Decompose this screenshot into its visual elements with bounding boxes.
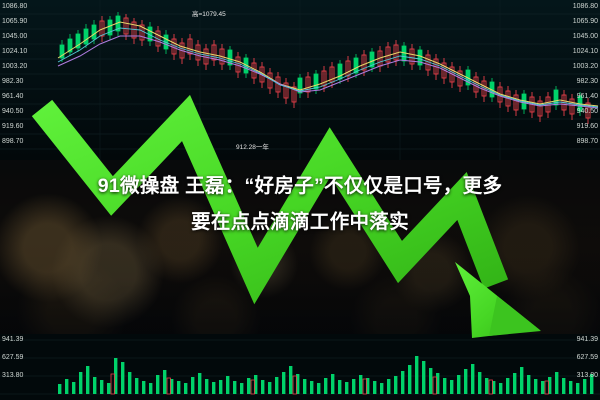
top-axis-right-9: 898.70 [577,138,598,145]
top-chart-svg [0,0,600,160]
top-axis-left-7: 940.50 [2,108,23,115]
top-axis-left-5: 982.30 [2,78,23,85]
top-stock-chart: 1086.80 1065.90 1045.00 1024.10 1003.20 … [0,0,600,160]
bottom-axis-right-2: 313.80 [577,372,598,379]
top-axis-left-3: 1024.10 [2,48,27,55]
headline-line-2: 要在点点滴滴工作中落实 [20,204,580,240]
image-canvas: 1086.80 1065.90 1045.00 1024.10 1003.20 … [0,0,600,400]
top-axis-right-1: 1065.90 [573,18,598,25]
bottom-chart-svg [0,334,600,400]
top-axis-right-3: 1024.10 [573,48,598,55]
bottom-axis-left-0: 941.39 [2,336,23,343]
top-axis-left-4: 1003.20 [2,63,27,70]
chart-low-annotation: 912.28一年 [236,141,269,151]
top-axis-right-4: 1003.20 [573,63,598,70]
top-axis-right-5: 982.30 [577,78,598,85]
top-axis-left-2: 1045.00 [2,33,27,40]
top-axis-left-9: 898.70 [2,138,23,145]
bottom-volume-chart: 941.39 627.59 313.80 941.39 627.59 313.8… [0,334,600,400]
top-axis-left-6: 961.40 [2,93,23,100]
top-axis-right-7: 940.50 [577,108,598,115]
bottom-axis-left-1: 627.59 [2,354,23,361]
top-axis-left-0: 1086.80 [2,3,27,10]
headline-text: 91微操盘 王磊：“好房子”不仅仅是口号，更多 要在点点滴滴工作中落实 [20,168,580,240]
top-axis-right-8: 919.60 [577,123,598,130]
top-axis-left-8: 919.60 [2,123,23,130]
bottom-axis-right-0: 941.39 [577,336,598,343]
top-axis-right-6: 961.40 [577,93,598,100]
top-axis-left-1: 1065.90 [2,18,27,25]
top-axis-right-2: 1045.00 [573,33,598,40]
bottom-axis-left-2: 313.80 [2,372,23,379]
headline-line-1: 91微操盘 王磊：“好房子”不仅仅是口号，更多 [20,168,580,204]
bottom-axis-right-1: 627.59 [577,354,598,361]
top-axis-right-0: 1086.80 [573,3,598,10]
chart-high-annotation: 高=1079.45 [192,8,226,18]
